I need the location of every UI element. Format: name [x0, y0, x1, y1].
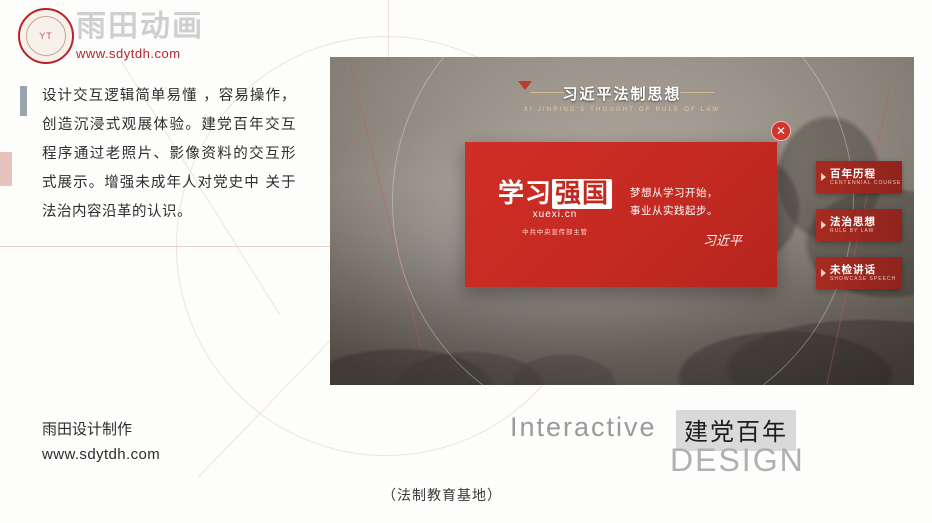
seal-icon-label: YT: [20, 10, 72, 62]
panel-title-en: XI JINPING'S THOUGHT OF RULE OF LAW: [330, 107, 914, 113]
menu-button-label-en: SHOWCASE SPEECH: [830, 276, 896, 282]
xuexi-brand: 学习强国 xuexi.cn 中共中央宣传部主管: [491, 180, 619, 236]
xuexi-brand-cn: 学习强国: [491, 180, 619, 208]
slide-page: YT 雨田动画 www.sdytdh.com 设计交互逻辑简单易懂 ，容易操作，…: [0, 0, 932, 523]
brand-url[interactable]: www.sdytdh.com: [76, 46, 181, 61]
footer-credit-url[interactable]: www.sdytdh.com: [42, 442, 160, 468]
decorative-line-vertical: [388, 0, 389, 57]
title-rule-left: [530, 92, 564, 93]
arrow-right-icon: [821, 221, 826, 229]
panel-title: 习近平法制思想 XI JINPING'S THOUGHT OF RULE OF …: [330, 83, 914, 113]
xuexi-brand-sub: 中共中央宣传部主管: [491, 226, 619, 236]
footer-credit-line1: 雨田设计制作: [42, 416, 160, 442]
quote-text: 梦想从学习开始， 事业从实践起步。: [630, 184, 758, 220]
close-icon[interactable]: ✕: [771, 121, 791, 141]
menu-button-label-en: CENTENNIAL COURSE: [830, 180, 901, 186]
xuexi-brand-cn-part2: 强国: [552, 179, 612, 209]
title-rule-right: [680, 92, 714, 93]
description-accent-bar: [20, 86, 27, 116]
quote-modal: 学习强国 xuexi.cn 中共中央宣传部主管 梦想从学习开始， 事业从实践起步…: [465, 142, 777, 287]
menu-button-centennial-course[interactable]: 百年历程 CENTENNIAL COURSE: [816, 161, 902, 193]
description-block: 设计交互逻辑简单易懂 ，容易操作，创造沉浸式观展体验。建党百年交互程序通过老照片…: [20, 82, 296, 227]
brand-name-cn: 雨田动画: [76, 10, 204, 44]
menu-button-label-cn: 未检讲话: [830, 262, 876, 277]
menu-button-label-cn: 百年历程: [830, 166, 876, 181]
menu-button-label-en: RULE BY LAW: [830, 228, 874, 234]
wordmark-block: Interactive 建党百年 DESIGN: [510, 408, 914, 478]
app-screenshot-panel: 习近平法制思想 XI JINPING'S THOUGHT OF RULE OF …: [330, 57, 914, 385]
decorative-block-left: [0, 152, 12, 186]
decorative-line-horizontal: [0, 246, 330, 247]
wordmark-design: DESIGN: [670, 442, 805, 479]
brand-logo: YT 雨田动画 www.sdytdh.com: [18, 8, 208, 66]
footer-credit: 雨田设计制作 www.sdytdh.com: [42, 416, 160, 468]
quote-line-1: 梦想从学习开始，: [630, 184, 758, 202]
description-text: 设计交互逻辑简单易懂 ，容易操作，创造沉浸式观展体验。建党百年交互程序通过老照片…: [42, 82, 296, 227]
image-caption: （法制教育基地）: [382, 485, 502, 505]
wordmark-interactive: Interactive: [510, 412, 657, 443]
arrow-right-icon: [821, 269, 826, 277]
xuexi-brand-cn-part1: 学习: [498, 179, 552, 209]
quote-line-2: 事业从实践起步。: [630, 202, 758, 220]
menu-button-label-cn: 法治思想: [830, 214, 876, 229]
panel-title-cn: 习近平法制思想: [330, 83, 914, 104]
xuexi-brand-en: xuexi.cn: [491, 209, 619, 220]
seal-icon: YT: [18, 8, 74, 64]
menu-button-showcase-speech[interactable]: 未检讲话 SHOWCASE SPEECH: [816, 257, 902, 289]
arrow-right-icon: [821, 173, 826, 181]
menu-button-rule-by-law[interactable]: 法治思想 RULE BY LAW: [816, 209, 902, 241]
quote-signature: 习近平: [703, 230, 742, 249]
